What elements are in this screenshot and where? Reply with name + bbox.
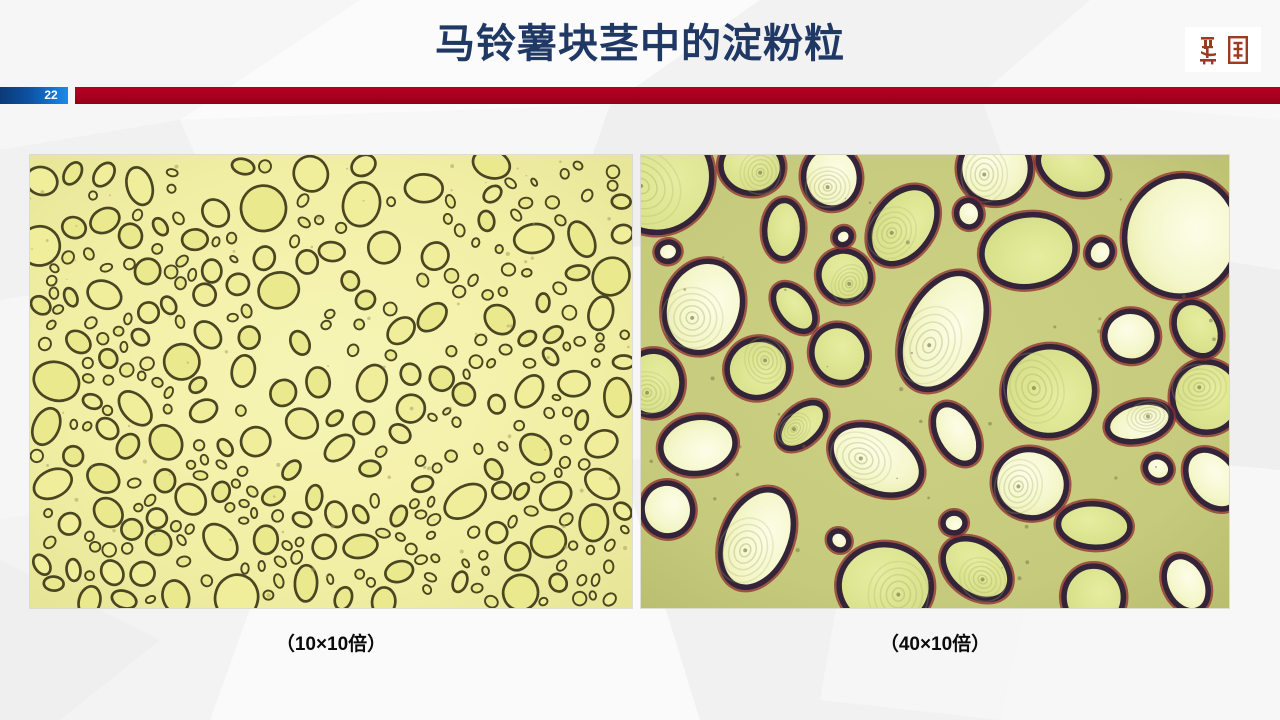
slide-canvas: 马铃薯块茎中的淀粉粒 — [0, 0, 1280, 720]
institution-logo — [1185, 27, 1261, 72]
seal-character-right-icon — [1226, 34, 1250, 66]
slide-title: 马铃薯块茎中的淀粉粒 — [0, 18, 1280, 70]
micrograph-10x-canvas — [30, 155, 632, 608]
micrograph-40x — [641, 155, 1229, 608]
accent-rule — [75, 87, 1280, 104]
micrograph-10x — [30, 155, 632, 608]
seal-character-left-icon — [1197, 34, 1221, 66]
micrograph-40x-canvas — [641, 155, 1229, 608]
caption-10x: （10×10倍） — [30, 629, 632, 656]
page-number: 22 — [38, 87, 64, 104]
caption-40x: （40×10倍） — [641, 629, 1229, 656]
